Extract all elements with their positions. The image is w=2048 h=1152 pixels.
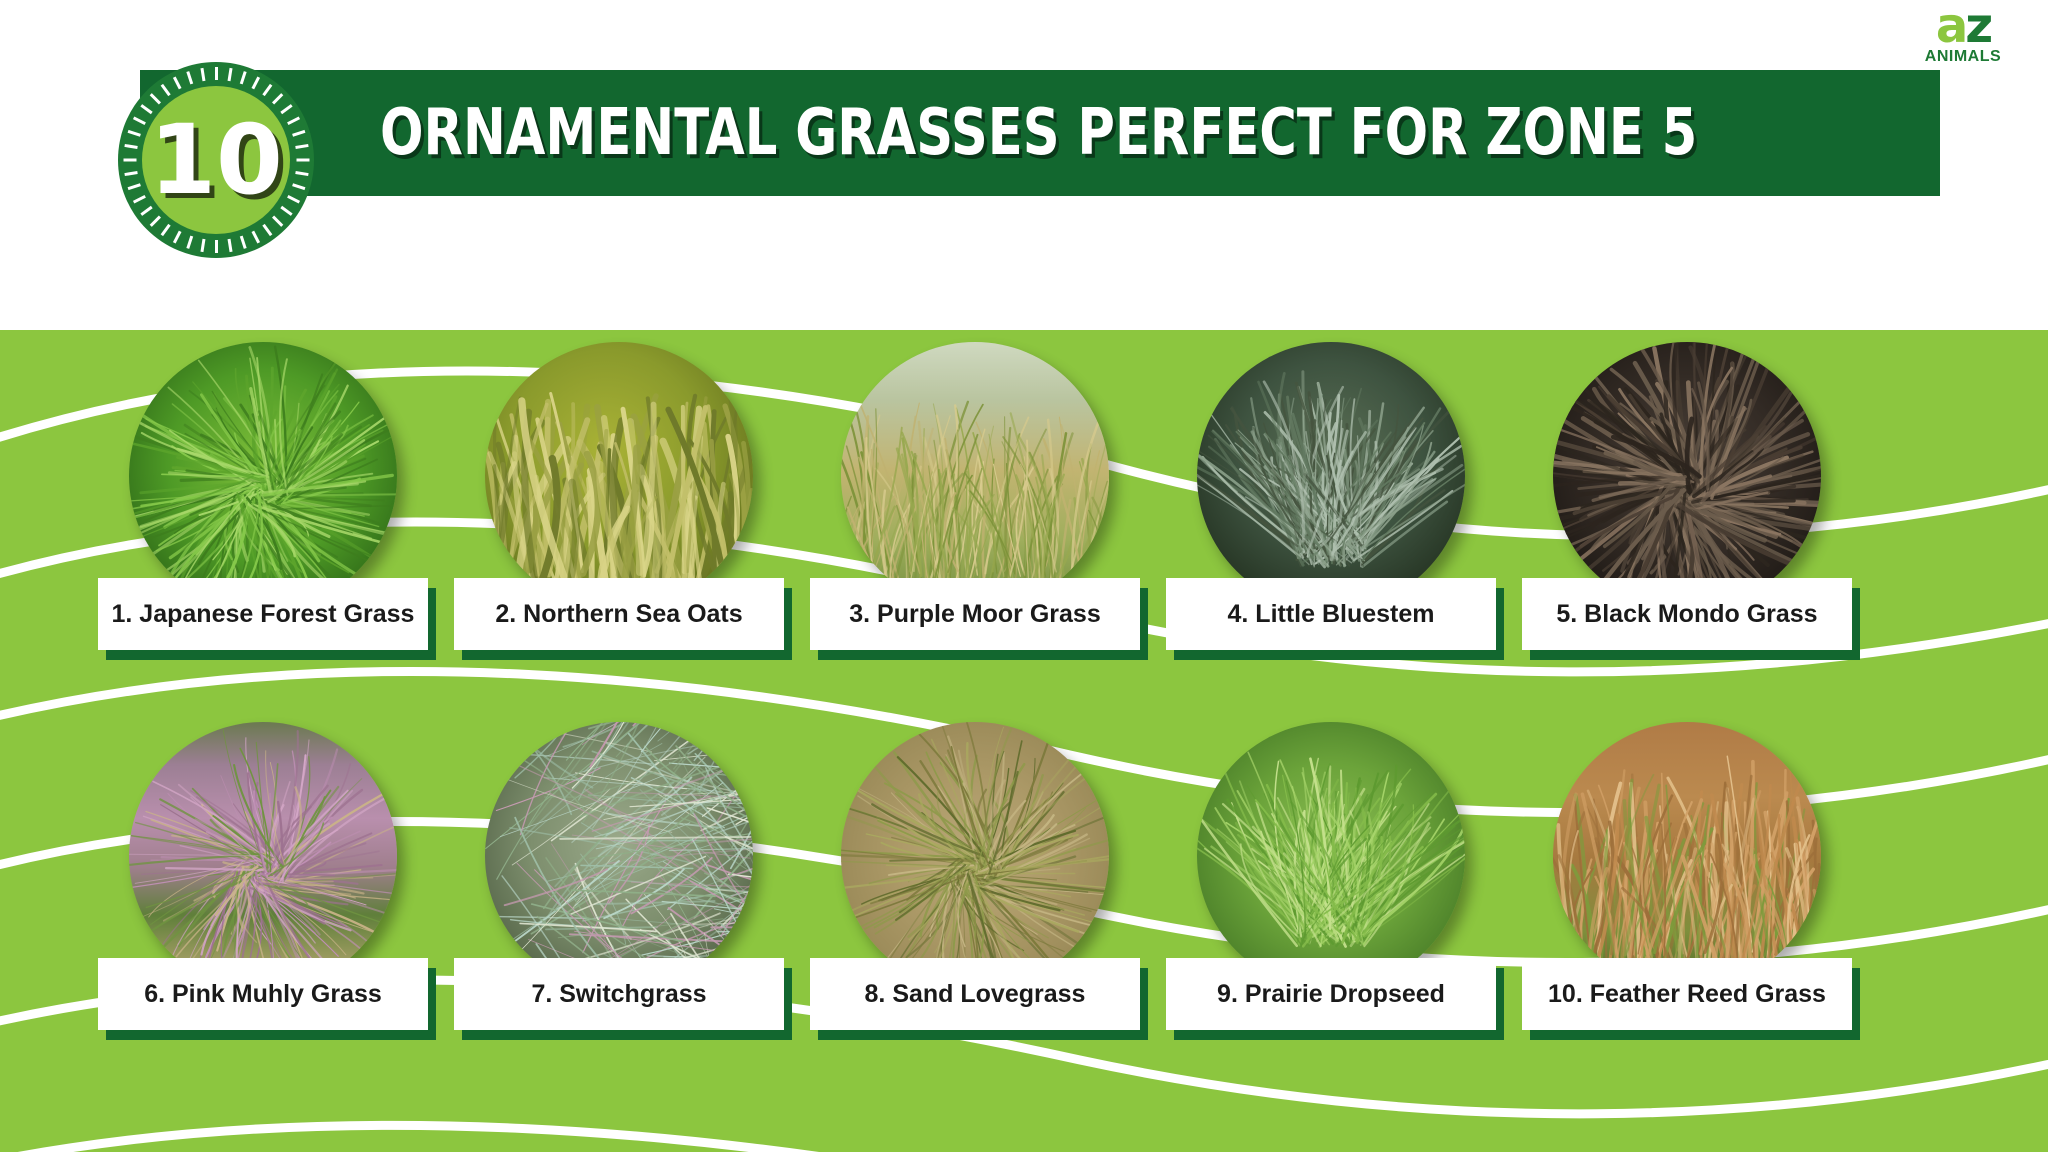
photo-artwork: [1553, 342, 1821, 610]
grass-label-text: 9. Prairie Dropseed: [1217, 980, 1445, 1009]
grass-label-text: 8. Sand Lovegrass: [865, 980, 1086, 1009]
prairie-dropseed-photo: [1197, 722, 1465, 990]
label-wrapper: 2. Northern Sea Oats: [454, 578, 784, 650]
photo-artwork: [1553, 722, 1821, 990]
photo-artwork: [485, 722, 753, 990]
grid-row-bottom: 6. Pink Muhly Grass7. Switchgrass8. Sand…: [0, 722, 2048, 1122]
grass-card[interactable]: 3. Purple Moor Grass: [790, 342, 1160, 742]
label-wrapper: 9. Prairie Dropseed: [1166, 958, 1496, 1030]
photo-artwork: [841, 342, 1109, 610]
photo-artwork: [485, 342, 753, 610]
grass-card[interactable]: 8. Sand Lovegrass: [790, 722, 1160, 1122]
label-wrapper: 8. Sand Lovegrass: [810, 958, 1140, 1030]
badge-number: 10: [118, 62, 314, 258]
grass-card[interactable]: 10. Feather Reed Grass: [1502, 722, 1872, 1122]
switchgrass-photo: [485, 722, 753, 990]
grass-card[interactable]: 6. Pink Muhly Grass: [78, 722, 448, 1122]
title-bar: ORNAMENTAL GRASSES PERFECT FOR ZONE 5: [140, 70, 1940, 196]
feather-reed-grass-photo: [1553, 722, 1821, 990]
photo-artwork: [841, 722, 1109, 990]
photo-artwork: [129, 722, 397, 990]
label-wrapper: 4. Little Bluestem: [1166, 578, 1496, 650]
az-animals-logo: az ANIMALS: [1908, 4, 2018, 70]
grass-label-box: 4. Little Bluestem: [1166, 578, 1496, 650]
purple-moor-grass-photo: [841, 342, 1109, 610]
grass-label-box: 3. Purple Moor Grass: [810, 578, 1140, 650]
page-title: ORNAMENTAL GRASSES PERFECT FOR ZONE 5: [380, 100, 1697, 166]
japanese-forest-grass-photo: [129, 342, 397, 610]
grass-label-box: 5. Black Mondo Grass: [1522, 578, 1852, 650]
grid-row-top: 1. Japanese Forest Grass2. Northern Sea …: [0, 342, 2048, 742]
photo-artwork: [1197, 722, 1465, 990]
label-wrapper: 6. Pink Muhly Grass: [98, 958, 428, 1030]
grass-label-text: 10. Feather Reed Grass: [1548, 980, 1826, 1009]
grass-label-text: 4. Little Bluestem: [1228, 600, 1435, 629]
grass-label-box: 8. Sand Lovegrass: [810, 958, 1140, 1030]
grass-label-text: 7. Switchgrass: [531, 980, 706, 1009]
grass-card[interactable]: 5. Black Mondo Grass: [1502, 342, 1872, 742]
grass-label-text: 1. Japanese Forest Grass: [112, 600, 415, 629]
grass-card[interactable]: 2. Northern Sea Oats: [434, 342, 804, 742]
grass-label-box: 6. Pink Muhly Grass: [98, 958, 428, 1030]
content-panel: 1. Japanese Forest Grass2. Northern Sea …: [0, 330, 2048, 1152]
grass-label-box: 7. Switchgrass: [454, 958, 784, 1030]
label-wrapper: 3. Purple Moor Grass: [810, 578, 1140, 650]
grass-card[interactable]: 7. Switchgrass: [434, 722, 804, 1122]
northern-sea-oats-photo: [485, 342, 753, 610]
little-bluestem-photo: [1197, 342, 1465, 610]
grass-label-box: 1. Japanese Forest Grass: [98, 578, 428, 650]
label-wrapper: 7. Switchgrass: [454, 958, 784, 1030]
logo-letter-z: z: [1965, 0, 1990, 54]
grass-card[interactable]: 1. Japanese Forest Grass: [78, 342, 448, 742]
grass-label-box: 2. Northern Sea Oats: [454, 578, 784, 650]
logo-mark: az: [1908, 4, 2018, 48]
grass-label-box: 9. Prairie Dropseed: [1166, 958, 1496, 1030]
logo-letter-a: a: [1936, 0, 1965, 54]
photo-artwork: [129, 342, 397, 610]
black-mondo-grass-photo: [1553, 342, 1821, 610]
label-wrapper: 1. Japanese Forest Grass: [98, 578, 428, 650]
logo-wordmark: ANIMALS: [1908, 48, 2018, 66]
count-badge: 10: [118, 62, 314, 258]
grass-label-text: 5. Black Mondo Grass: [1556, 600, 1817, 629]
photo-artwork: [1197, 342, 1465, 610]
grass-label-text: 6. Pink Muhly Grass: [144, 980, 382, 1009]
grass-card[interactable]: 9. Prairie Dropseed: [1146, 722, 1516, 1122]
pink-muhly-grass-photo: [129, 722, 397, 990]
label-wrapper: 5. Black Mondo Grass: [1522, 578, 1852, 650]
grass-label-text: 3. Purple Moor Grass: [849, 600, 1100, 629]
sand-lovegrass-photo: [841, 722, 1109, 990]
grass-label-text: 2. Northern Sea Oats: [495, 600, 742, 629]
grass-label-box: 10. Feather Reed Grass: [1522, 958, 1852, 1030]
label-wrapper: 10. Feather Reed Grass: [1522, 958, 1852, 1030]
grass-card[interactable]: 4. Little Bluestem: [1146, 342, 1516, 742]
